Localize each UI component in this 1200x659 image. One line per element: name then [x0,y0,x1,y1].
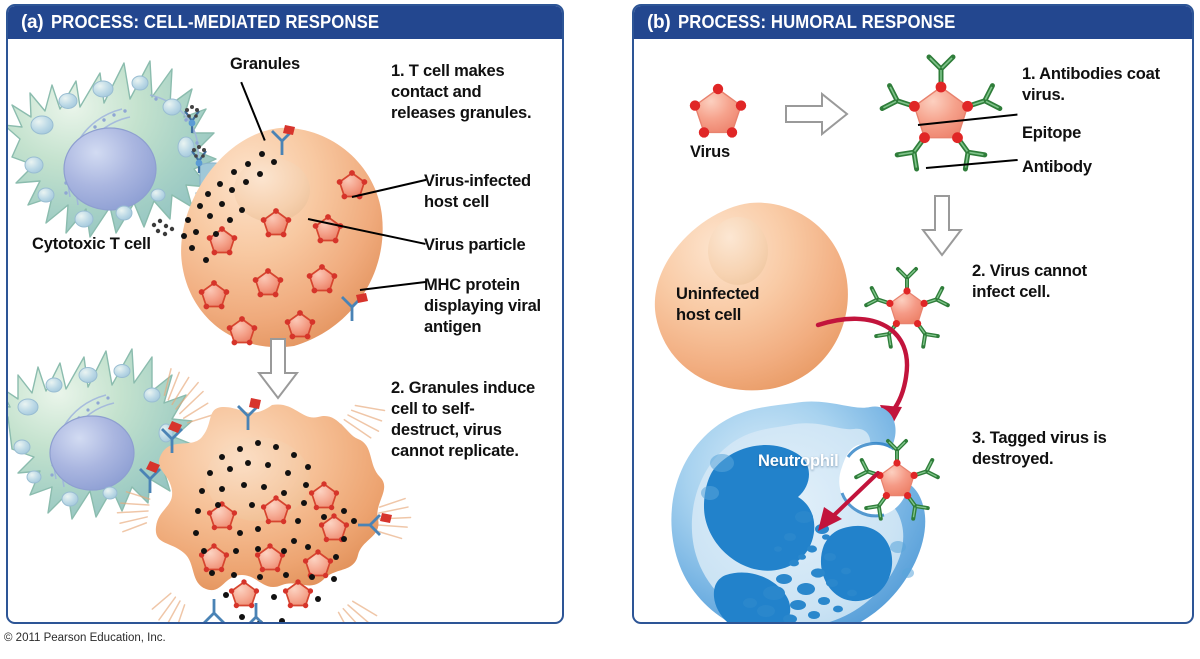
label-virus-particle: Virus particle [424,235,525,256]
panel-b-canvas: Virus [634,39,1192,622]
label-virus-infected-host-cell: Virus-infected host cell [424,171,531,213]
label-cytotoxic-t-cell: Cytotoxic T cell [32,234,151,255]
mhc-protein-top-crown [266,121,306,164]
step-1-text-panel-a: 1. T cell makes contact and releases gra… [391,61,531,124]
mhc-protein-lysed-top [232,394,270,439]
label-epitope: Epitope [1022,123,1081,144]
mhc-protein-lysed-bottom [198,595,236,624]
step-2-text-panel-b: 2. Virus cannot infect cell. [972,261,1087,303]
label-virus: Virus [690,142,730,163]
label-antibody: Antibody [1022,157,1092,178]
panel-cell-mediated-response: (a) PROCESS: CELL-MEDIATED RESPONSE [6,4,564,624]
label-mhc-protein: MHC protein displaying viral antigen [424,275,541,338]
process-arrow-b-down [920,194,964,263]
phagocytosis-arrow [800,467,890,552]
step-1-text-panel-b: 1. Antibodies coat virus. [1022,64,1160,106]
process-arrow-b-right [784,91,850,142]
mhc-protein-lysed-bottom2 [240,599,278,624]
label-uninfected-host-cell: Uninfected host cell [676,284,759,327]
mhc-protein-lysed-left [156,417,194,462]
panel-a-label: (a) [21,12,43,34]
panel-b-label: (b) [647,12,670,34]
copyright-notice: © 2011 Pearson Education, Inc. [4,632,166,644]
panel-b-title: PROCESS: HUMORAL RESPONSE [678,12,955,33]
label-granules: Granules [230,54,300,75]
panel-humoral-response: (b) PROCESS: HUMORAL RESPONSE [632,4,1194,624]
step-2-text-panel-a: 2. Granules induce cell to self- destruc… [391,378,535,462]
panel-a-header: (a) PROCESS: CELL-MEDIATED RESPONSE [8,6,562,39]
mhc-protein-top-right [336,291,376,332]
mhc-protein-lysed-left2 [134,457,172,502]
panel-a-title: PROCESS: CELL-MEDIATED RESPONSE [51,12,379,33]
antibody-coated-virus-step1 [856,47,1026,192]
figure-root: (a) PROCESS: CELL-MEDIATED RESPONSE [0,0,1200,659]
panel-a-canvas: Cytotoxic T cell Granules Virus-infected… [8,39,562,622]
panel-b-header: (b) PROCESS: HUMORAL RESPONSE [634,6,1192,39]
step-3-text-panel-b: 3. Tagged virus is destroyed. [972,428,1107,470]
mhc-protein-lysed-right [358,509,402,550]
